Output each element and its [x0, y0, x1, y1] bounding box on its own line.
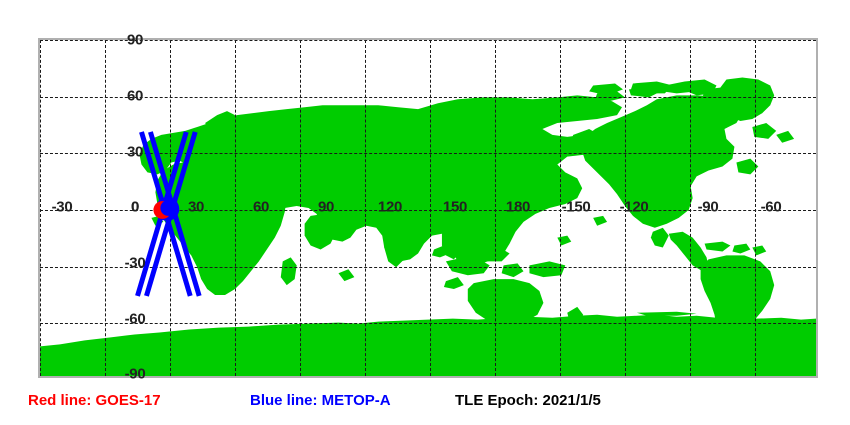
lon-label--30: -30 — [52, 199, 73, 216]
chart-legend: Red line: GOES-17 Blue line: METOP-A TLE… — [0, 392, 850, 420]
lat-label-90: 90 — [127, 32, 143, 49]
satellite-ground-track-chart: -30 0 30 60 90 120 150 180 -150 -120 -90… — [0, 0, 850, 425]
land-shapes — [40, 78, 816, 376]
lon-label-150: 150 — [443, 199, 467, 216]
lon-label-180: 180 — [506, 199, 530, 216]
lat-label--60: -60 — [125, 311, 146, 328]
legend-tle-epoch: TLE Epoch: 2021/1/5 — [455, 392, 601, 409]
lon-label--150: -150 — [562, 199, 591, 216]
lat-label--90: -90 — [125, 366, 146, 383]
lon-label-30: 30 — [188, 199, 204, 216]
lat-label-60: 60 — [127, 88, 143, 105]
lon-label-90: 90 — [318, 199, 334, 216]
lon-label-120: 120 — [378, 199, 402, 216]
lon-label--120: -120 — [620, 199, 649, 216]
lat-label-30: 30 — [127, 144, 143, 161]
legend-blue-line-metop-a: Blue line: METOP-A — [250, 392, 391, 409]
lat-label-0: 0 — [131, 199, 139, 216]
lon-label--60: -60 — [761, 199, 782, 216]
legend-red-line-goes17: Red line: GOES-17 — [28, 392, 161, 409]
lat-label--30: -30 — [125, 255, 146, 272]
lon-label--90: -90 — [698, 199, 719, 216]
lon-label-60: 60 — [253, 199, 269, 216]
